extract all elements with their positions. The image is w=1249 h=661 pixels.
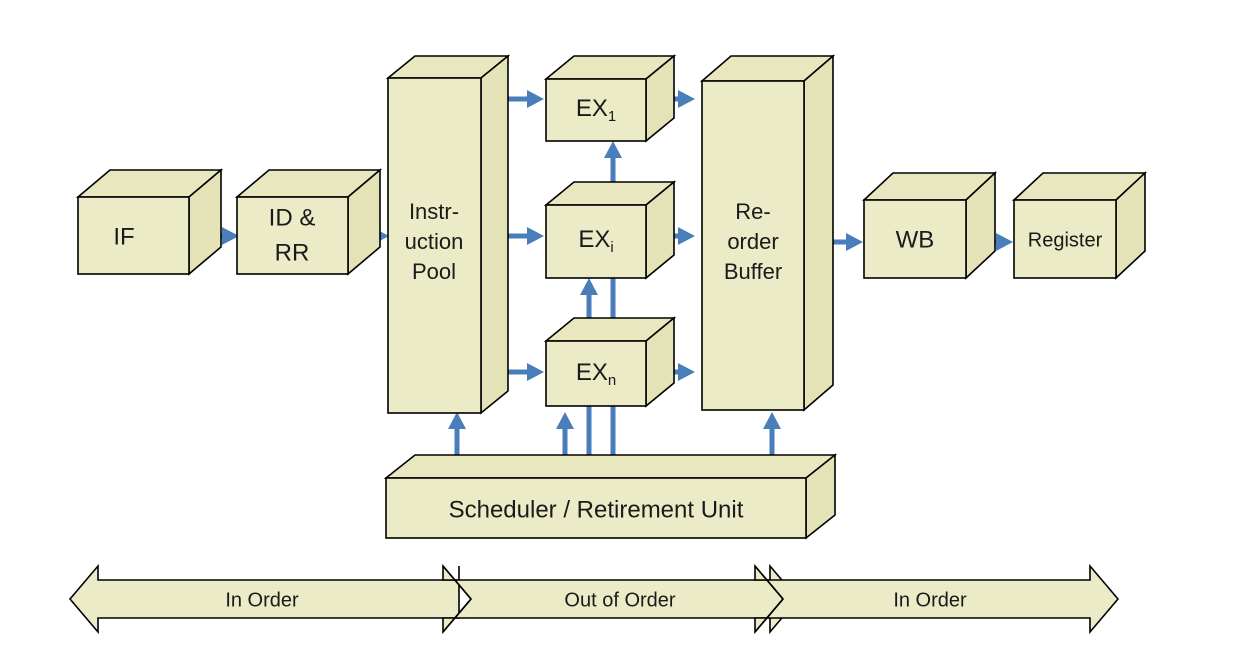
band-in-order-left: In Order: [70, 566, 459, 632]
band-in-order-right: In Order: [755, 566, 1118, 632]
block-label-reorder-buffer-line1: Re-: [735, 199, 770, 224]
block-label-id-rr-line1: ID &: [269, 204, 316, 231]
block-label-reorder-buffer-line2: order: [727, 229, 778, 254]
block-instruction-pool[interactable]: Instr- uction Pool: [388, 56, 508, 413]
block-wb[interactable]: WB: [864, 173, 995, 278]
block-ex-1[interactable]: EX1: [546, 56, 674, 141]
block-label-reorder-buffer-line3: Buffer: [724, 259, 782, 284]
block-register[interactable]: Register: [1014, 173, 1145, 278]
block-label-ex-i: EXi: [578, 226, 613, 256]
block-ex-n[interactable]: EXn: [546, 318, 674, 406]
block-ex-i[interactable]: EXi: [546, 182, 674, 278]
block-if[interactable]: IF: [78, 170, 221, 274]
pipeline-diagram: IF ID & RR Instr- uction Pool EX1: [0, 0, 1249, 661]
block-id-rr[interactable]: ID & RR: [237, 170, 380, 274]
block-label-if: IF: [113, 223, 134, 250]
block-label-id-rr-line2: RR: [275, 239, 310, 266]
block-scheduler-retirement-unit[interactable]: Scheduler / Retirement Unit: [386, 455, 835, 538]
block-label-instruction-pool-line3: Pool: [412, 259, 456, 284]
block-reorder-buffer[interactable]: Re- order Buffer: [702, 56, 833, 410]
block-label-instruction-pool-line1: Instr-: [409, 199, 459, 224]
block-label-scheduler: Scheduler / Retirement Unit: [449, 496, 744, 523]
band-label-in-order-right: In Order: [893, 589, 967, 611]
diagram-canvas: IF ID & RR Instr- uction Pool EX1: [0, 0, 1249, 661]
band-label-out-of-order: Out of Order: [564, 589, 675, 611]
block-label-wb: WB: [896, 226, 935, 253]
band-out-of-order: Out of Order: [443, 566, 798, 632]
block-label-register: Register: [1028, 229, 1103, 251]
block-label-instruction-pool-line2: uction: [405, 229, 464, 254]
band-label-in-order-left: In Order: [225, 589, 299, 611]
